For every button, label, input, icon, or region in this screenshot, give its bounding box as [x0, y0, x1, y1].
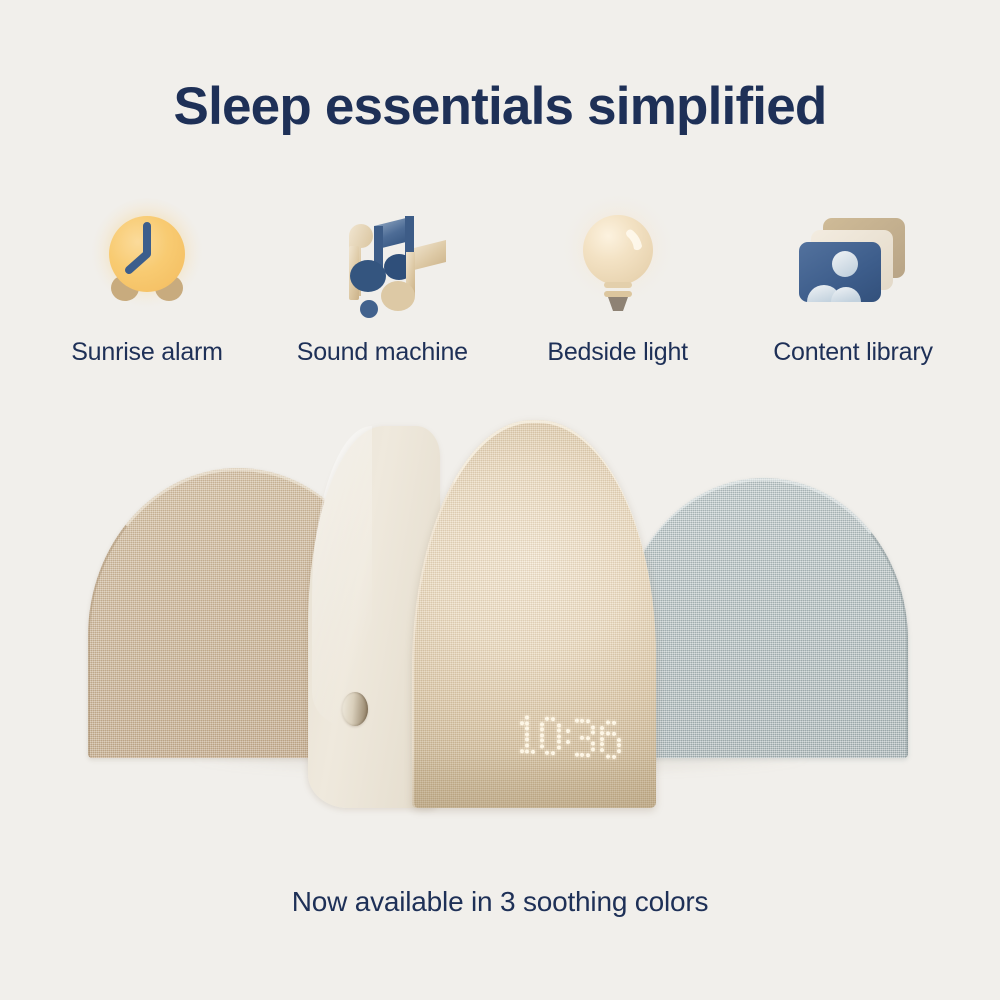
- music-notes-icon: [316, 196, 448, 328]
- feature-label: Content library: [773, 338, 933, 367]
- clock-digit: [600, 720, 621, 759]
- light-bulb-icon: [552, 196, 684, 328]
- page-title: Sleep essentials simplified: [0, 78, 1000, 136]
- media-cards-icon: [787, 196, 919, 328]
- clock-separator: [566, 718, 570, 756]
- clock-digit: [514, 715, 535, 754]
- product-unit-hero: [308, 420, 656, 808]
- feature-item-sound-machine: Sound machine: [269, 196, 495, 367]
- product-scene: [0, 400, 1000, 850]
- feature-item-sunrise-alarm: Sunrise alarm: [34, 196, 260, 367]
- footer-caption: Now available in 3 soothing colors: [0, 886, 1000, 918]
- feature-label: Sound machine: [297, 338, 468, 367]
- product-poster: Sleep essentials simplified: [0, 0, 1000, 1000]
- product-unit-grey: [620, 478, 908, 758]
- clock-digit: [575, 718, 596, 757]
- clock-display: [514, 715, 621, 759]
- feature-list: Sunrise alarm: [34, 196, 966, 367]
- feature-item-bedside-light: Bedside light: [505, 196, 731, 367]
- power-button[interactable]: [342, 692, 368, 726]
- alarm-clock-icon: [81, 196, 213, 328]
- clock-digit: [540, 716, 561, 755]
- feature-label: Bedside light: [547, 338, 688, 367]
- feature-label: Sunrise alarm: [71, 338, 223, 367]
- feature-item-content-library: Content library: [740, 196, 966, 367]
